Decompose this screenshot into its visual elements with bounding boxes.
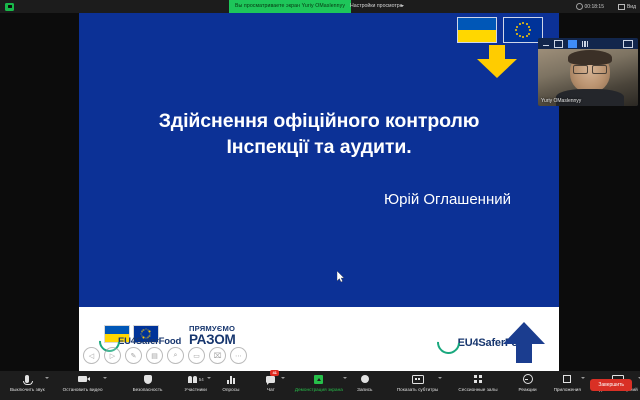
active-view-icon[interactable]: [568, 40, 577, 48]
participant-hair: [568, 50, 612, 65]
chat-button[interactable]: 41Чат: [261, 371, 281, 392]
mouse-cursor-icon: [337, 271, 345, 282]
mute-button-label: Выключить звук: [10, 387, 45, 392]
shield-icon: [144, 374, 152, 384]
camera-icon: [78, 374, 87, 384]
self-view-video-panel[interactable]: Yuriy OMaslennyy: [538, 38, 638, 106]
subtitles-button[interactable]: ⌧: [209, 347, 226, 364]
apps-button-label: Приложения: [554, 387, 581, 392]
ukraine-flag-icon: [457, 17, 497, 43]
mute-button[interactable]: Выключить звук: [10, 371, 45, 392]
shared-screen-slide: Здійснення офіційного контролю Інспекції…: [79, 13, 559, 371]
filmstrip-icon[interactable]: [582, 41, 589, 47]
meeting-timer: 00:18:15: [576, 2, 604, 11]
reactions-icon: [523, 374, 533, 384]
breakout-rooms-button-label: Сессионные залы: [458, 387, 497, 392]
security-button-label: Безопасность: [133, 387, 163, 392]
window-icon[interactable]: [554, 40, 563, 48]
chevron-up-icon[interactable]: [281, 377, 285, 379]
apps-icon: [563, 374, 571, 384]
blank-screen-button[interactable]: ▭: [188, 347, 205, 364]
breakout-rooms-icon: [474, 374, 482, 384]
polls-button[interactable]: Опросы: [221, 371, 241, 392]
slide-author: Юрій Оглашенний: [113, 191, 525, 208]
eu4saferfood-left-text: EU4SaferFood: [118, 336, 181, 347]
record-button[interactable]: Запись: [355, 371, 375, 392]
share-screen-button-label: Демонстрация экрана: [295, 387, 343, 392]
captions-button[interactable]: Показать субтитры: [397, 371, 439, 392]
screen-share-indicator-icon: [5, 3, 14, 11]
tagline-logo: ПРЯМУЄМО РАЗОМ: [189, 325, 236, 347]
participants-button[interactable]: 54Участники: [185, 371, 207, 392]
participant-count: 54: [199, 377, 204, 382]
up-arrow-annotation-icon: [503, 322, 545, 364]
screen-share-icon: [314, 374, 323, 384]
slide-title: Здійснення офіційного контролю Інспекції…: [113, 109, 525, 160]
expand-icon[interactable]: [623, 40, 633, 48]
slide-title-line2: Інспекції та аудити.: [113, 135, 525, 161]
next-slide-button[interactable]: ▷: [104, 347, 121, 364]
view-label: Вид: [627, 4, 636, 10]
chat-unread-badge: 41: [270, 370, 278, 376]
toolbar-items: Выключить звукОстановить видеоБезопаснос…: [10, 371, 640, 400]
participants-button-label: Участники: [185, 387, 207, 392]
eu-stars: [515, 22, 531, 38]
tagline-line2: РАЗОМ: [189, 333, 236, 347]
video-feed: Yuriy OMaslennyy: [538, 49, 638, 106]
layout-icon: [618, 4, 625, 10]
down-arrow-icon: [451, 45, 543, 79]
chevron-up-icon[interactable]: [103, 377, 107, 379]
all-slides-button[interactable]: ▤: [146, 347, 163, 364]
presenter-control-bar[interactable]: ◁▷✎▤⌕▭⌧⋯: [83, 347, 247, 364]
minimize-icon[interactable]: [543, 41, 549, 46]
chevron-up-icon[interactable]: [581, 377, 585, 379]
share-notice-pill: Вы просматриваете экран Yuriy OMaslennyy: [229, 0, 351, 13]
chevron-up-icon[interactable]: [207, 377, 211, 379]
reactions-button-label: Реакции: [519, 387, 537, 392]
zoom-slide-button[interactable]: ⌕: [167, 347, 184, 364]
zoom-meeting-window: Вы просматриваете экран Yuriy OMaslennyy…: [0, 0, 640, 400]
people-icon: 54: [188, 374, 204, 384]
chevron-down-icon[interactable]: [400, 5, 404, 7]
video-panel-controls[interactable]: [538, 38, 638, 49]
eu-flag-icon: [503, 17, 543, 43]
slide-title-line1: Здійснення офіційного контролю: [113, 109, 525, 135]
polls-button-label: Опросы: [222, 387, 239, 392]
reactions-button[interactable]: Реакции: [518, 371, 538, 392]
slide-flags-graphic: [451, 17, 543, 79]
record-button-label: Запись: [357, 387, 372, 392]
more-options-button[interactable]: ⋯: [230, 347, 247, 364]
chevron-up-icon[interactable]: [45, 377, 49, 379]
bars-icon: [227, 374, 235, 384]
security-button[interactable]: Безопасность: [133, 371, 163, 392]
microphone-icon: [25, 374, 29, 384]
stop-video-button[interactable]: Остановить видео: [63, 371, 103, 392]
chevron-up-icon[interactable]: [438, 377, 442, 379]
view-layout-button[interactable]: Вид: [618, 2, 636, 11]
pen-tool-button[interactable]: ✎: [125, 347, 142, 364]
clock-icon: [576, 3, 583, 10]
view-options-button[interactable]: Настройки просмотра: [350, 0, 403, 13]
meeting-toolbar: Выключить звукОстановить видеоБезопаснос…: [0, 371, 640, 400]
breakout-rooms-button[interactable]: Сессионные залы: [458, 371, 497, 392]
share-screen-button[interactable]: Демонстрация экрана: [295, 371, 343, 392]
timer-value: 00:18:15: [585, 4, 604, 10]
apps-button[interactable]: Приложения: [554, 371, 581, 392]
glasses-icon: [573, 65, 607, 72]
video-participant-name: Yuriy OMaslennyy: [541, 98, 581, 104]
captions-icon: [412, 374, 424, 384]
swoosh-icon-right: [432, 326, 464, 358]
captions-button-label: Показать субтитры: [397, 387, 439, 392]
chat-button-label: Чат: [267, 387, 275, 392]
record-icon: [361, 374, 369, 384]
chevron-up-icon[interactable]: [343, 377, 347, 379]
end-meeting-button[interactable]: Завершить: [590, 379, 632, 391]
prev-slide-button[interactable]: ◁: [83, 347, 100, 364]
stop-video-button-label: Остановить видео: [63, 387, 103, 392]
screen-share-topbar: Вы просматриваете экран Yuriy OMaslennyy…: [0, 0, 640, 13]
